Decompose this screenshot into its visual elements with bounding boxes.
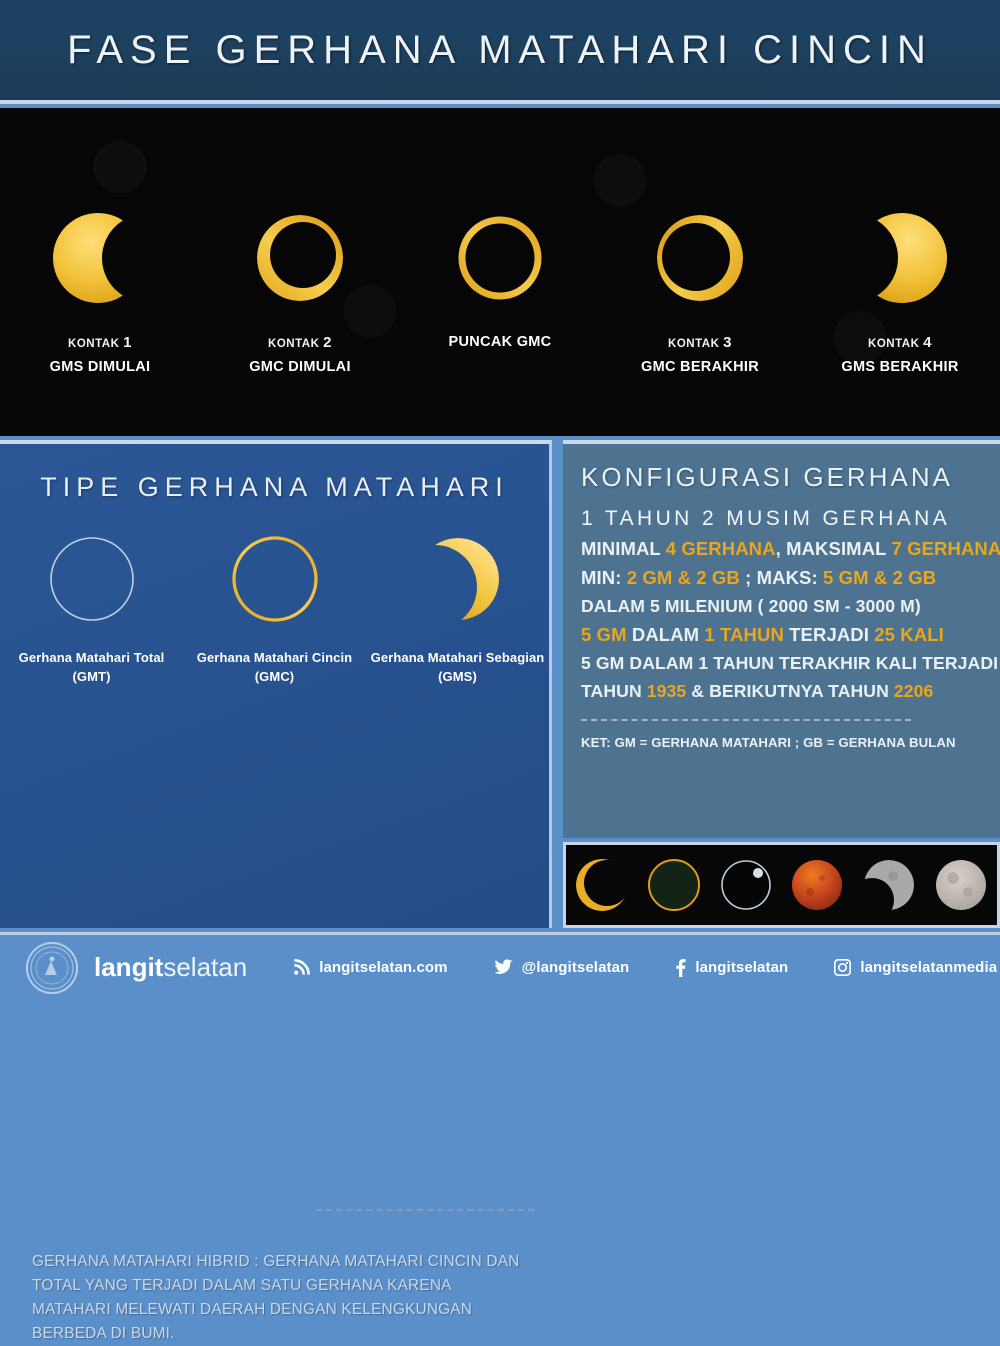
eclipse-photo-strip <box>563 842 1000 928</box>
phase-item-1: KONTAK 1 GMS DIMULAI <box>0 108 200 378</box>
partial-lunar-eclipse-thumb <box>860 856 918 914</box>
page-title: FASE GERHANA MATAHARI CINCIN <box>67 28 933 73</box>
annular-ring-dark-thumb <box>645 856 703 914</box>
type-item-gms: Gerhana Matahari Sebagian (GMS) <box>366 525 549 687</box>
footer-link-facebook-label: langitselatan <box>695 959 788 976</box>
phase-item-4: KONTAK 3 GMC BERAKHIR <box>600 108 800 378</box>
full-moon-thumb <box>932 856 990 914</box>
annular-eclipse-crescent-thumb <box>573 856 631 914</box>
phase-contact-label-1: KONTAK 1 <box>0 332 200 354</box>
config-line-last-occurrence: 5 GM DALAM 1 TAHUN TERAKHIR KALI TERJADI <box>581 653 1000 674</box>
gold-crescent-icon <box>366 525 549 633</box>
phase-contact-label-2: KONTAK 2 <box>200 332 400 354</box>
config-panel-divider <box>581 719 911 721</box>
type-list: Gerhana Matahari Total (GMT) <box>0 525 549 687</box>
eclipse-type-panel: TIPE GERHANA MATAHARI Gerhana Matahari T… <box>0 440 552 928</box>
rss-icon <box>293 959 310 976</box>
footer-link-website[interactable]: langitselatan.com <box>293 959 447 976</box>
infographic-poster: FASE GERHANA MATAHARI CINCIN <box>0 0 1000 1000</box>
phase-desc-4: GMC BERAKHIR <box>600 357 800 378</box>
phase-contact-label-5: KONTAK 4 <box>800 332 1000 354</box>
phase-row: KONTAK 1 GMS DIMULAI <box>0 108 1000 436</box>
footer-link-instagram-label: langitselatanmedia <box>860 959 997 976</box>
annulus-thick-bottom-left-icon <box>200 206 400 310</box>
eclipse-config-panel: KONFIGURASI GERHANA 1 TAHUN 2 MUSIM GERH… <box>563 440 1000 838</box>
type-label-gms: Gerhana Matahari Sebagian (GMS) <box>366 649 549 687</box>
config-lead-line: 1 TAHUN 2 MUSIM GERHANA <box>581 507 1000 531</box>
phase-item-5: KONTAK 4 GMS BERAKHIR <box>800 108 1000 378</box>
phase-item-2: KONTAK 2 GMC DIMULAI <box>200 108 400 378</box>
phase-caption-2: KONTAK 2 GMC DIMULAI <box>200 332 400 378</box>
config-line-5gm-frequency: 5 GM DALAM 1 TAHUN TERJADI 25 KALI <box>581 624 1000 646</box>
sun-partial-left-bite-icon <box>800 206 1000 310</box>
blood-moon-thumb <box>788 856 846 914</box>
type-label-gmc: Gerhana Matahari Cincin (GMC) <box>183 649 366 687</box>
brand-lockup[interactable]: langitselatan <box>26 942 247 994</box>
hybrid-eclipse-note: GERHANA MATAHARI HIBRID : GERHANA MATAHA… <box>32 1250 532 1346</box>
phase-desc-1: GMS DIMULAI <box>0 357 200 378</box>
corona-ring-icon <box>0 525 183 633</box>
total-eclipse-corona-thumb <box>717 856 775 914</box>
twitter-icon <box>494 959 513 976</box>
phase-caption-4: KONTAK 3 GMC BERAKHIR <box>600 332 800 378</box>
phase-contact-label-4: KONTAK 3 <box>600 332 800 354</box>
footer-link-website-label: langitselatan.com <box>319 959 447 976</box>
eclipse-phases-section: KONTAK 1 GMS DIMULAI <box>0 108 1000 436</box>
phase-caption-1: KONTAK 1 GMS DIMULAI <box>0 332 200 378</box>
facebook-icon <box>675 959 686 977</box>
annulus-thick-right-icon <box>600 206 800 310</box>
phase-desc-2: GMC DIMULAI <box>200 357 400 378</box>
config-panel-heading: KONFIGURASI GERHANA <box>581 462 1000 493</box>
brand-wordmark: langitselatan <box>94 952 247 983</box>
footer-link-instagram[interactable]: langitselatanmedia <box>834 959 997 976</box>
config-line-millennium: DALAM 5 MILENIUM ( 2000 SM - 3000 M) <box>581 596 1000 617</box>
type-item-gmt: Gerhana Matahari Total (GMT) <box>0 525 183 687</box>
footer-link-facebook[interactable]: langitselatan <box>675 959 788 977</box>
phase-item-3: PUNCAK GMC <box>400 108 600 353</box>
footer-link-twitter-label: @langitselatan <box>522 959 630 976</box>
phase-desc-3: PUNCAK GMC <box>400 332 600 353</box>
type-panel-divider <box>316 1209 534 1211</box>
social-links: langitselatan.com @langitselatan langits… <box>247 959 997 977</box>
footer-link-twitter[interactable]: @langitselatan <box>494 959 630 976</box>
footer-bar: langitselatan langitselatan.com <box>0 932 1000 1000</box>
type-label-gmt: Gerhana Matahari Total (GMT) <box>0 649 183 687</box>
config-line-minmax-count: MINIMAL 4 GERHANA, MAKSIMAL 7 GERHANA <box>581 538 1000 560</box>
instagram-icon <box>834 959 851 976</box>
annulus-even-ring-icon <box>400 206 600 310</box>
brand-name-bold: langit <box>94 952 163 982</box>
config-legend-note: KET: GM = GERHANA MATAHARI ; GB = GERHAN… <box>581 735 1000 750</box>
sun-partial-right-bite-icon <box>0 206 200 310</box>
phase-caption-3: PUNCAK GMC <box>400 332 600 353</box>
phase-caption-5: KONTAK 4 GMS BERAKHIR <box>800 332 1000 378</box>
langitselatan-seal-icon <box>26 942 78 994</box>
brand-name-light: selatan <box>163 952 247 982</box>
config-line-years: TAHUN 1935 & BERIKUTNYA TAHUN 2206 <box>581 681 1000 702</box>
type-item-gmc: Gerhana Matahari Cincin (GMC) <box>183 525 366 687</box>
phase-desc-5: GMS BERAKHIR <box>800 357 1000 378</box>
type-panel-heading: TIPE GERHANA MATAHARI <box>0 472 549 503</box>
gold-ring-icon <box>183 525 366 633</box>
poster-title-bar: FASE GERHANA MATAHARI CINCIN <box>0 0 1000 104</box>
config-line-minmax-types: MIN: 2 GM & 2 GB ; MAKS: 5 GM & 2 GB <box>581 567 1000 589</box>
